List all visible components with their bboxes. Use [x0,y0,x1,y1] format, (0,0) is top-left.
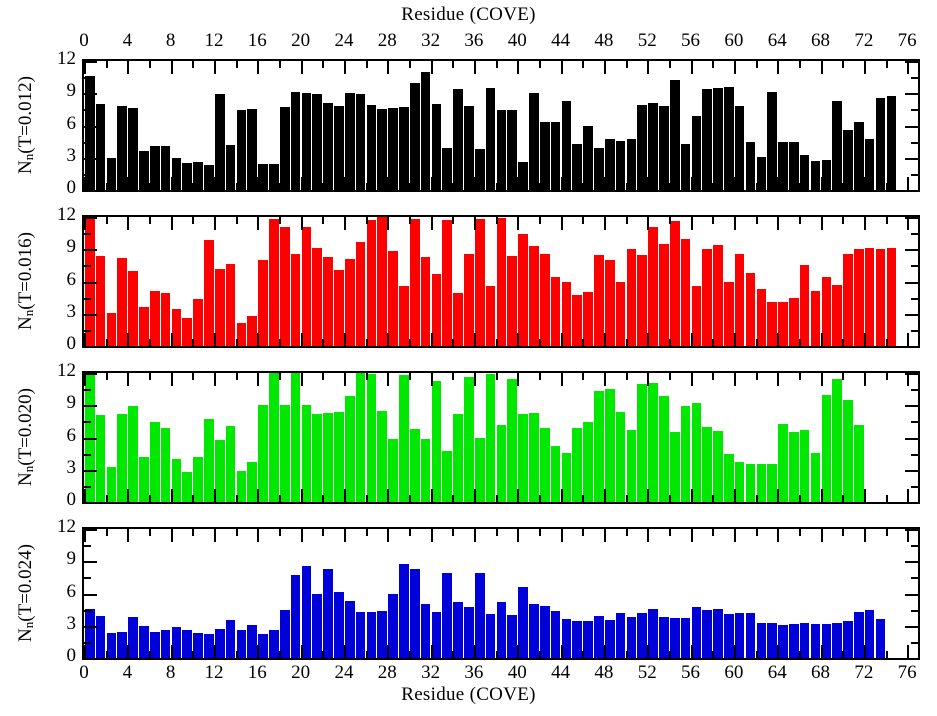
bar [161,146,171,190]
y-tick-right [911,265,918,267]
x-tick-top [474,529,476,542]
bar [258,260,268,346]
bar [280,610,290,658]
x-tick-bottom [84,645,86,658]
x-tick-bottom [474,177,476,190]
x-tick-top [127,61,129,74]
bar [594,148,604,190]
bar [258,634,268,658]
x-tick-bottom [712,495,714,502]
x-tick-top [864,529,866,542]
bar [518,162,528,190]
bar [562,453,572,502]
x-tick-top [322,61,324,68]
bar [312,94,322,190]
bar [724,454,734,502]
bar [648,227,658,346]
x-tick-top [149,61,151,68]
bar [377,217,387,346]
bar [215,269,225,346]
x-tick-label-top: 64 [757,30,797,52]
y-tick-right [905,626,918,628]
y-tick-label: 6 [36,269,76,291]
bar [432,104,442,190]
x-tick-bottom [279,183,281,190]
bar [713,431,723,502]
bar [583,292,593,346]
bar [594,255,604,346]
x-tick-top [712,529,714,536]
bar-series [84,61,918,190]
x-tick-bottom [149,183,151,190]
x-tick-bottom [517,333,519,346]
y-tick-right [905,561,918,563]
bar [356,373,366,502]
panel-T-0016: 036912Nn(T=0.016) [0,215,937,348]
y-tick-right [911,577,918,579]
x-tick-bottom [366,339,368,346]
x-tick-bottom [214,489,216,502]
x-tick-bottom [279,339,281,346]
x-tick-label-top: 12 [194,30,234,52]
y-axis-caption-text: Nn(T=0.020) [15,388,36,486]
bar [724,282,734,347]
bar [767,92,777,190]
bar [193,457,203,502]
x-tick-bottom [821,645,823,658]
x-tick-top [734,373,736,386]
bar [475,573,485,658]
x-tick-top [691,373,693,386]
bar [226,620,236,658]
x-tick-label-top: 24 [324,30,364,52]
y-axis-caption-text: Nn(T=0.024) [15,544,36,642]
x-tick-top [387,61,389,74]
bar [670,221,680,346]
bar [843,254,853,346]
bar [107,467,117,502]
bar [670,432,680,502]
x-tick-top [322,529,324,536]
x-tick-top [409,217,411,224]
x-tick-bottom [279,495,281,502]
bar [562,282,572,347]
x-tick-bottom [669,495,671,502]
y-tick-left [84,373,97,375]
x-tick-bottom [582,495,584,502]
bar [616,141,626,190]
x-tick-bottom [647,177,649,190]
x-tick-top [344,373,346,386]
bar [637,255,647,346]
bar [312,594,322,659]
bar [323,103,333,190]
bar [312,248,322,346]
x-tick-label-bottom: 16 [237,662,277,684]
bar [432,612,442,658]
bar [464,254,474,346]
bar [865,139,875,190]
x-tick-top [561,217,563,230]
x-tick-top [301,373,303,386]
bar [605,389,615,502]
y-tick-right [905,529,918,531]
x-tick-top [452,373,454,380]
x-tick-bottom [842,651,844,658]
x-tick-bottom [149,495,151,502]
x-tick-bottom [799,495,801,502]
bar [117,632,127,658]
x-tick-top [149,373,151,380]
x-tick-bottom [734,489,736,502]
y-tick-right [905,314,918,316]
x-tick-top [106,373,108,380]
x-tick-bottom [236,339,238,346]
x-tick-bottom [517,489,519,502]
x-tick-bottom [257,177,259,190]
y-tick-right [911,642,918,644]
x-tick-top [777,529,779,542]
x-tick-bottom [214,645,216,658]
y-axis-caption: Nn(T=0.016) [15,206,37,356]
x-tick-bottom [691,489,693,502]
x-tick-label-top: 8 [151,30,191,52]
y-tick-left [84,190,97,192]
y-tick-right [911,298,918,300]
bar [832,379,842,502]
x-tick-bottom [409,339,411,346]
bar [540,428,550,502]
bar [713,88,723,190]
y-tick-label: 0 [36,333,76,355]
bar [356,242,366,346]
x-tick-bottom [864,333,866,346]
x-tick-bottom [539,339,541,346]
bar [107,313,117,346]
bar [778,424,788,502]
y-tick-right [905,93,918,95]
x-tick-top [821,61,823,74]
x-tick-bottom [387,489,389,502]
x-tick-bottom [84,489,86,502]
x-tick-top [344,61,346,74]
x-tick-top [691,61,693,74]
x-tick-bottom [669,339,671,346]
y-tick-left [84,502,97,504]
y-tick-left [84,421,91,423]
bar [659,244,669,346]
plot-area [82,371,920,504]
y-tick-right [905,126,918,128]
bar [182,318,192,346]
x-tick-top [366,61,368,68]
bar [139,151,149,190]
y-tick-right [911,421,918,423]
bar [800,623,810,658]
x-tick-bottom [864,489,866,502]
x-tick-label-top: 44 [541,30,581,52]
y-tick-left [84,529,97,531]
bar [442,573,452,658]
x-tick-top [279,373,281,380]
x-tick-top [214,61,216,74]
y-tick-label: 12 [36,360,76,382]
bar [637,105,647,190]
y-tick-left [84,470,97,472]
x-tick-bottom [821,177,823,190]
bar [226,264,236,346]
y-tick-left [84,174,91,176]
bar [161,630,171,658]
x-tick-bottom [864,177,866,190]
x-tick-top [409,61,411,68]
bar [757,289,767,346]
x-tick-label-top: 48 [584,30,624,52]
panel-T-0024: 036912Nn(T=0.024) [0,527,937,660]
bar [648,609,658,658]
bar [594,391,604,502]
bar [345,93,355,190]
x-tick-top [149,529,151,536]
bar [767,623,777,658]
x-tick-top [539,529,541,536]
bar [453,293,463,346]
x-tick-top [474,217,476,230]
x-tick-top [647,61,649,74]
x-tick-bottom [756,495,758,502]
y-tick-left [84,142,91,144]
bar [367,105,377,190]
bar [302,227,312,346]
y-tick-right [905,405,918,407]
x-tick-bottom [799,339,801,346]
y-tick-right [905,502,918,504]
bar [367,220,377,346]
x-tick-bottom [647,645,649,658]
x-tick-bottom [322,495,324,502]
y-tick-right [911,545,918,547]
bar [822,277,832,346]
y-tick-label: 12 [36,204,76,226]
x-tick-bottom [322,183,324,190]
bottom-axis-title: Residue (COVE) [0,684,937,706]
bar [291,92,301,190]
bar [204,419,214,502]
x-tick-top [691,217,693,230]
bar [854,425,864,502]
x-tick-bottom [431,489,433,502]
x-tick-bottom [452,183,454,190]
x-tick-bottom [777,177,779,190]
bar [811,161,821,190]
bar [659,396,669,502]
bar [96,415,106,502]
x-tick-bottom [452,339,454,346]
x-tick-top [821,217,823,230]
y-tick-label: 9 [36,80,76,102]
bar [529,246,539,346]
y-tick-right [911,77,918,79]
bar [843,130,853,190]
bar [139,626,149,658]
bar [572,295,582,346]
x-tick-top [214,373,216,386]
bar [627,430,637,502]
x-tick-top [604,373,606,386]
y-tick-left [84,346,97,348]
x-tick-top [604,217,606,230]
x-tick-bottom [734,645,736,658]
bar [681,618,691,658]
x-tick-bottom [106,183,108,190]
bar [854,612,864,658]
x-tick-label-top: 68 [801,30,841,52]
x-tick-top [127,217,129,230]
bar [410,429,420,502]
bar [215,94,225,190]
bar [247,316,257,346]
x-tick-bottom [712,339,714,346]
x-tick-bottom [344,333,346,346]
bar [388,439,398,502]
bar [464,377,474,502]
x-tick-label-top: 40 [497,30,537,52]
bar [269,630,279,658]
x-tick-top [626,61,628,68]
y-tick-label: 6 [36,113,76,135]
bar [85,609,95,658]
bar [670,618,680,658]
x-tick-bottom [691,177,693,190]
x-tick-top [734,61,736,74]
bar [117,106,127,190]
bar [551,611,561,658]
x-tick-bottom [301,333,303,346]
bar [789,142,799,190]
bar [345,396,355,502]
bar [746,464,756,502]
bar [377,109,387,190]
bar [323,413,333,502]
x-tick-label-bottom: 24 [324,662,364,684]
x-tick-top [106,217,108,224]
x-tick-bottom [474,645,476,658]
y-tick-right [911,486,918,488]
x-tick-top [257,373,259,386]
bar [822,160,832,190]
x-tick-top [474,61,476,74]
x-tick-bottom [301,489,303,502]
bar [692,403,702,502]
bar [302,93,312,190]
x-tick-top [387,217,389,230]
y-tick-label: 9 [36,548,76,570]
x-tick-bottom [366,651,368,658]
x-tick-bottom [409,651,411,658]
bar [377,411,387,502]
x-tick-bottom [301,177,303,190]
x-tick-bottom [691,333,693,346]
x-tick-top [864,61,866,74]
y-tick-left [84,486,91,488]
bar [627,139,637,190]
bar [345,259,355,346]
x-tick-label-bottom: 8 [151,662,191,684]
bar [161,293,171,346]
x-tick-top [452,529,454,536]
x-tick-bottom [127,645,129,658]
bar [789,432,799,502]
bar [757,464,767,502]
x-tick-label-top: 32 [411,30,451,52]
x-tick-label-top: 72 [844,30,884,52]
bar [96,616,106,658]
x-tick-bottom [214,333,216,346]
y-tick-left [84,282,97,284]
bar [280,405,290,502]
y-tick-label: 12 [36,516,76,538]
bar [182,163,192,190]
bar [204,165,214,190]
x-tick-bottom [236,651,238,658]
bar [681,239,691,347]
y-tick-right [911,610,918,612]
y-tick-right [905,249,918,251]
bar [107,633,117,658]
bar [757,157,767,190]
x-tick-top [431,529,433,542]
x-tick-top [647,217,649,230]
x-tick-top [691,529,693,542]
bar [117,414,127,502]
x-tick-top [582,217,584,224]
x-tick-bottom [171,645,173,658]
x-tick-top [409,529,411,536]
bar [789,298,799,346]
bar [529,93,539,190]
x-tick-bottom [214,177,216,190]
x-tick-top [387,529,389,542]
y-tick-left [84,626,97,628]
x-tick-top [431,373,433,386]
bar [150,291,160,346]
bar [497,425,507,502]
bar [269,219,279,346]
x-tick-top [236,373,238,380]
x-tick-label-top: 60 [714,30,754,52]
y-axis-caption-text: Nn(T=0.016) [15,232,36,330]
bar [399,107,409,190]
x-tick-label-top: 52 [627,30,667,52]
x-tick-top [669,529,671,536]
y-tick-left [84,233,91,235]
bar [410,219,420,346]
x-tick-bottom [582,339,584,346]
x-tick-bottom [691,645,693,658]
x-tick-label-bottom: 72 [844,662,884,684]
x-tick-bottom [561,177,563,190]
bar [237,110,247,190]
bar [692,286,702,346]
bar [518,587,528,658]
bar [572,144,582,190]
bar [421,72,431,190]
bar [702,249,712,346]
x-tick-bottom [192,495,194,502]
x-tick-bottom [496,651,498,658]
y-tick-left [84,126,97,128]
bar [887,248,897,346]
